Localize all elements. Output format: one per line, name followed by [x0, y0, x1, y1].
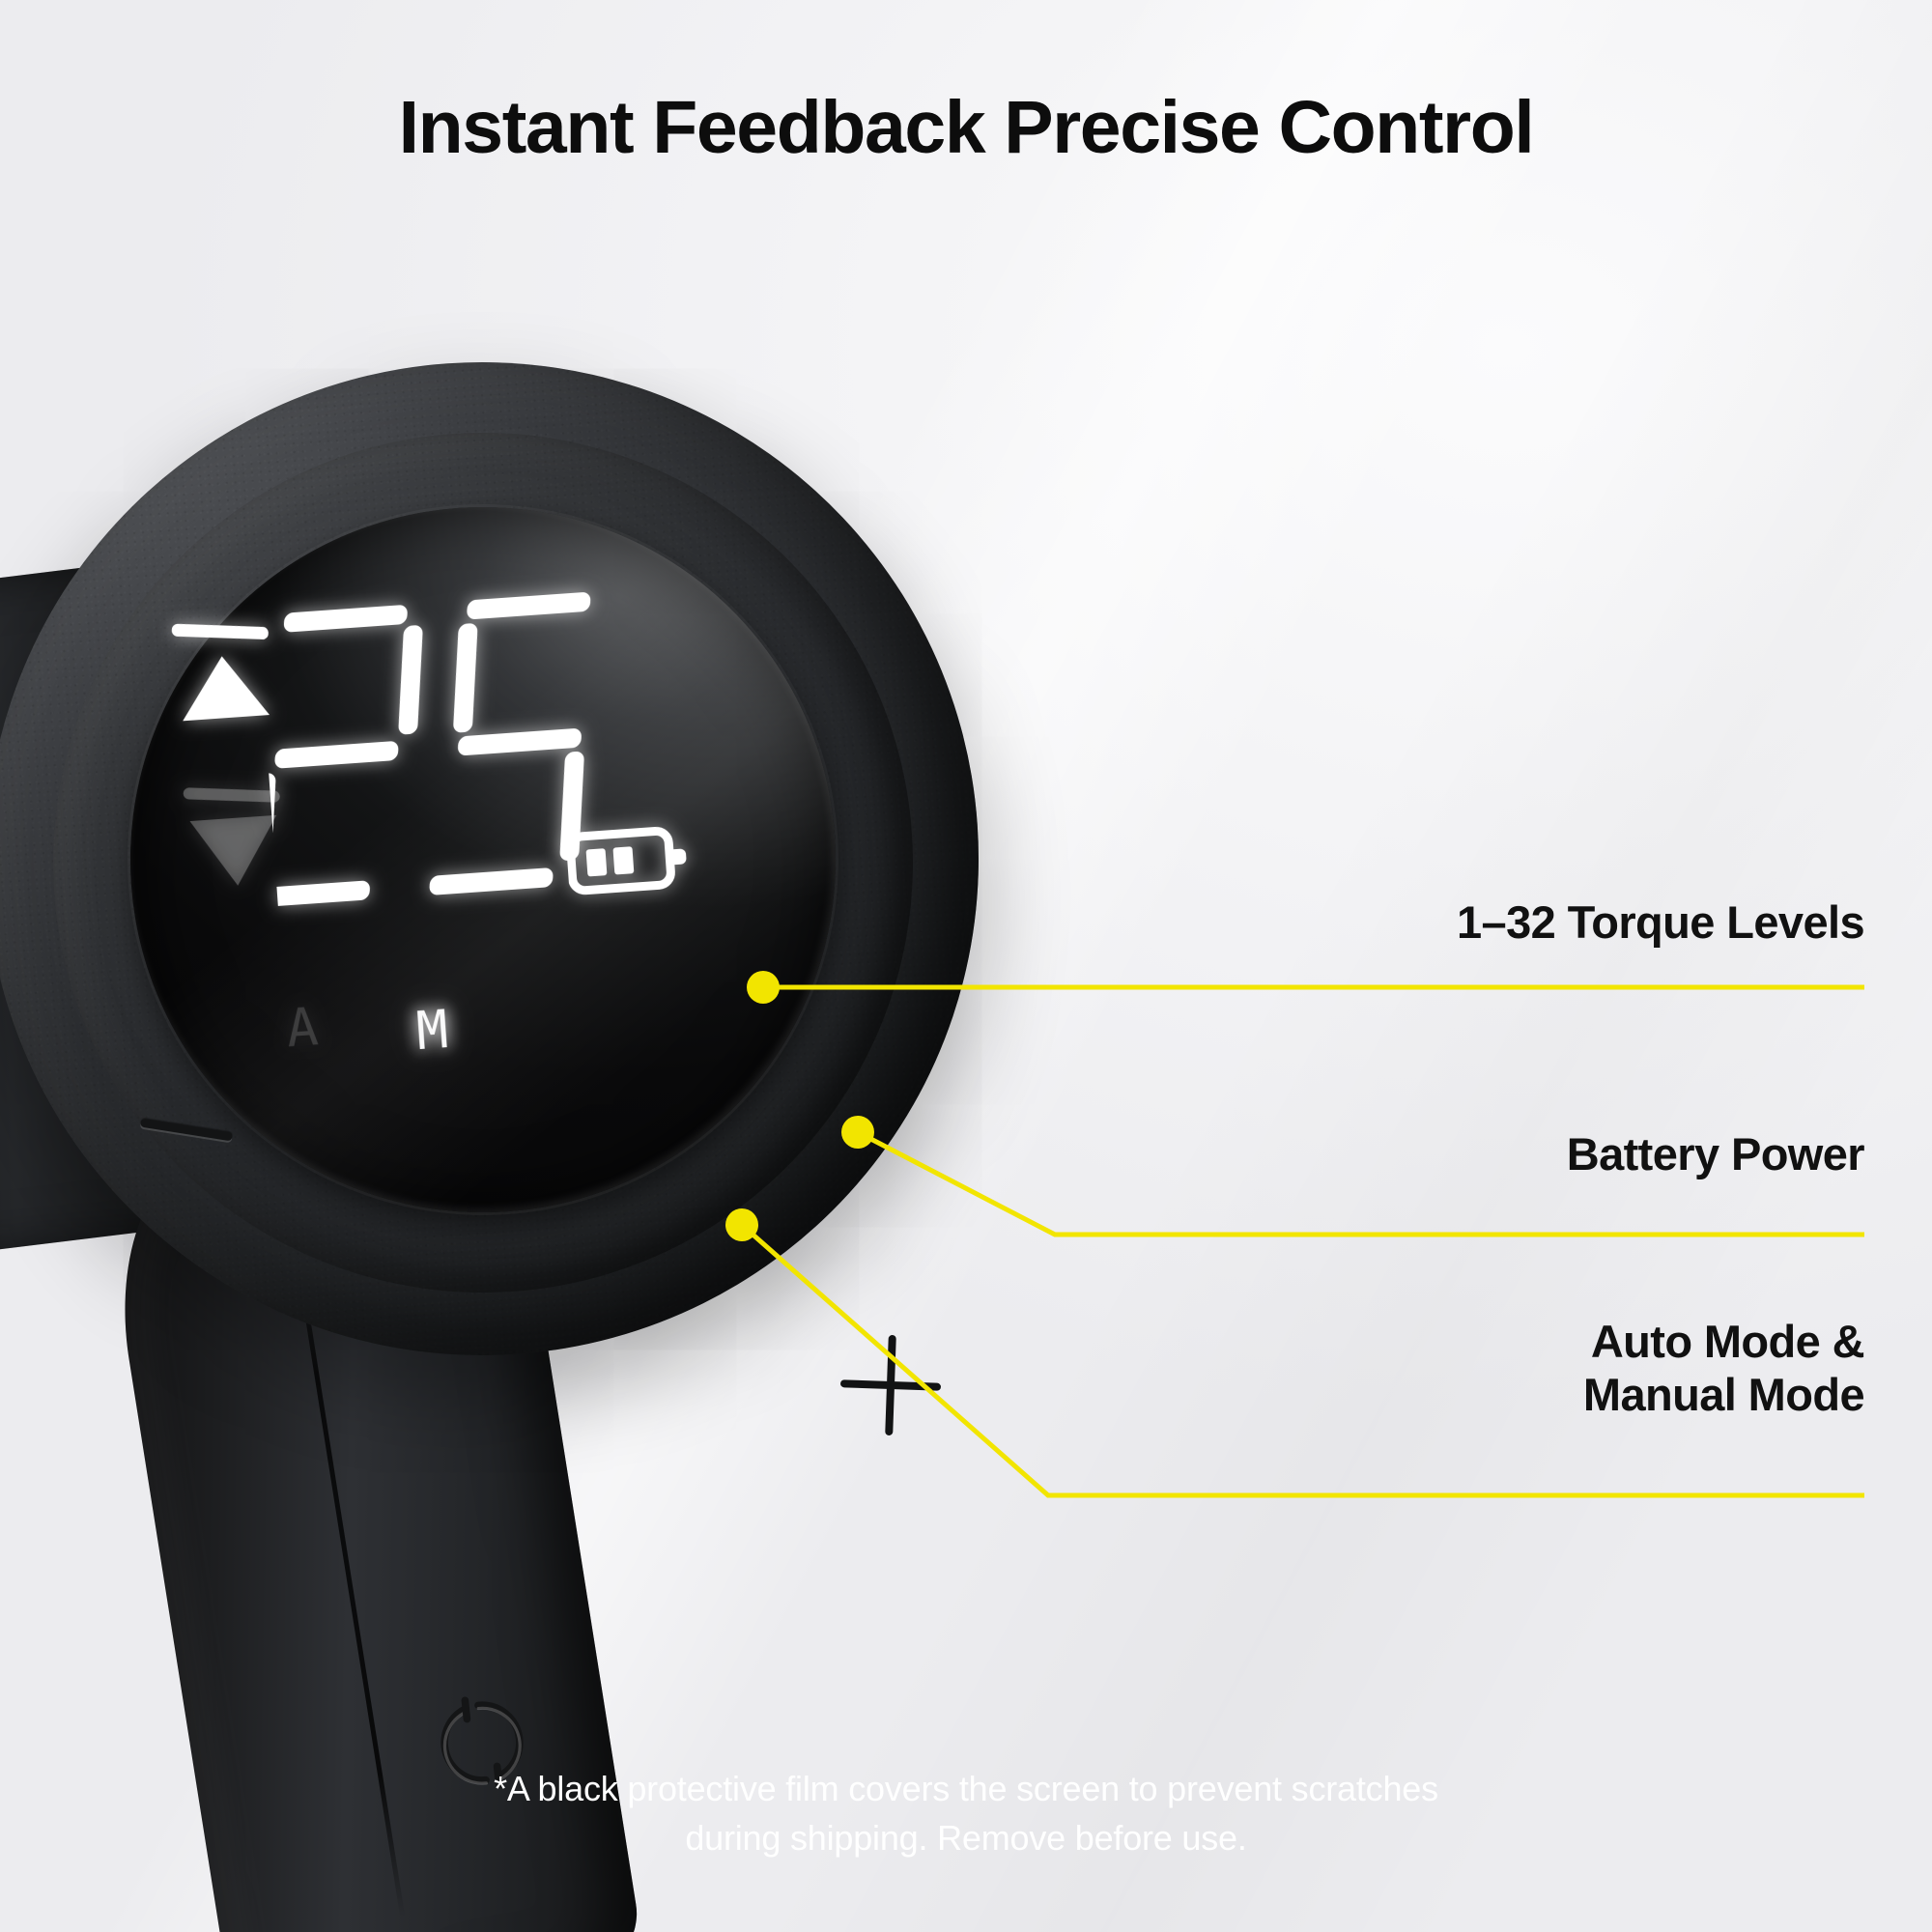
footnote-line-2: during shipping. Remove before use.: [0, 1813, 1932, 1862]
callout-label-modes-line1: Auto Mode &: [1323, 1316, 1864, 1369]
callout-label-modes-line2: Manual Mode: [1323, 1369, 1864, 1422]
callout-label-torque: 1–32 Torque Levels: [1457, 896, 1864, 950]
product-image: A M: [0, 319, 1150, 1932]
page-title: Instant Feedback Precise Control: [0, 85, 1932, 171]
footnote-line-1: *A black protective film covers the scre…: [0, 1764, 1932, 1813]
infographic-canvas: Instant Feedback Precise Control: [0, 0, 1932, 1932]
footnote: *A black protective film covers the scre…: [0, 1764, 1932, 1862]
callout-label-battery: Battery Power: [1567, 1128, 1864, 1181]
plus-icon[interactable]: [838, 1333, 943, 1437]
callout-label-modes: Auto Mode & Manual Mode: [1323, 1316, 1864, 1422]
